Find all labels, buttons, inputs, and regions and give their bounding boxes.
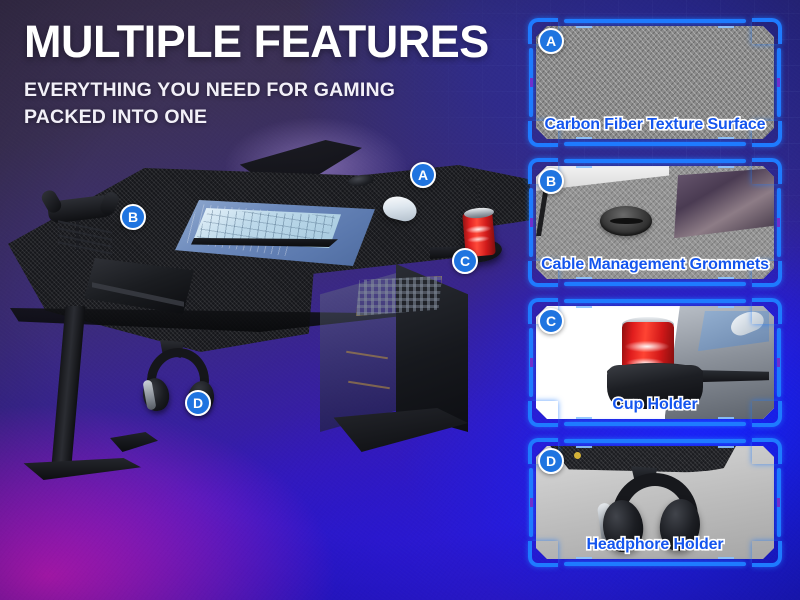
scene-badge-c[interactable]: C xyxy=(452,248,478,274)
frame-pip xyxy=(530,78,533,87)
frame-pip xyxy=(530,218,533,227)
desk-leg-column xyxy=(51,306,86,476)
frame-pip xyxy=(530,498,533,507)
frame-tick xyxy=(718,557,734,559)
panel-label-d: Headphore Holder xyxy=(524,536,786,554)
page-title: MULTIPLE FEATURES xyxy=(24,18,524,66)
panel-badge-b[interactable]: B xyxy=(538,168,564,194)
frame-tick xyxy=(718,417,734,419)
panel-label-a: Carbon Fiber Texture Surface xyxy=(524,116,786,134)
frame-tick xyxy=(576,306,592,308)
frame-pip xyxy=(777,218,780,227)
game-disc-rack xyxy=(58,224,112,254)
frame-tick xyxy=(718,26,734,28)
controller-stand xyxy=(44,188,120,250)
frame-corner-top-right xyxy=(752,438,782,464)
subtitle-line-1: EVERYTHING YOU NEED FOR GAMING xyxy=(24,77,524,104)
highlight-spark xyxy=(574,452,581,459)
frame-tick xyxy=(718,166,734,168)
frame-edge-top xyxy=(564,159,746,163)
frame-tick xyxy=(576,277,592,279)
panel-label-b: Cable Management Grommets xyxy=(524,256,786,274)
feature-panel-headphone-holder[interactable]: D Headphore Holder xyxy=(524,436,786,569)
frame-edge-bottom xyxy=(564,562,746,566)
frame-corner-top-right xyxy=(752,158,782,184)
grommet-hole xyxy=(600,206,652,236)
soda-can-label xyxy=(465,221,493,249)
panel-label-c: Cup Holder xyxy=(524,396,786,414)
frame-tick xyxy=(718,306,734,308)
product-feature-poster: MULTIPLE FEATURES EVERYTHING YOU NEED FO… xyxy=(0,0,800,600)
frame-tick xyxy=(576,446,592,448)
feature-panel-carbon-fiber[interactable]: A Carbon Fiber Texture Surface xyxy=(524,16,786,149)
product-scene: A B C D xyxy=(0,140,530,600)
frame-tick xyxy=(576,166,592,168)
frame-tick xyxy=(718,277,734,279)
scene-badge-a[interactable]: A xyxy=(410,162,436,188)
frame-corner-top-right xyxy=(752,298,782,324)
desk-leg-crossbar xyxy=(110,432,158,452)
frame-tick xyxy=(576,26,592,28)
feature-panel-cup-holder[interactable]: C Cup Holder xyxy=(524,296,786,429)
frame-tick xyxy=(576,417,592,419)
frame-edge-top xyxy=(564,439,746,443)
frame-corner-top-right xyxy=(752,18,782,44)
scene-badge-b[interactable]: B xyxy=(120,204,146,230)
frame-edge-bottom xyxy=(564,142,746,146)
panel-badge-d[interactable]: D xyxy=(538,448,564,474)
frame-tick xyxy=(718,446,734,448)
frame-pip xyxy=(530,358,533,367)
frame-tick xyxy=(576,137,592,139)
feature-panel-list: A Carbon Fiber Texture Surface xyxy=(524,16,792,576)
pc-tower xyxy=(320,258,475,448)
tower-vent-mesh xyxy=(356,276,442,316)
frame-pip xyxy=(777,498,780,507)
frame-edge-top xyxy=(564,19,746,23)
panel-badge-c[interactable]: C xyxy=(538,308,564,334)
feature-panel-cable-grommets[interactable]: B Cable Management Grommets xyxy=(524,156,786,289)
frame-edge-bottom xyxy=(564,282,746,286)
frame-tick xyxy=(576,557,592,559)
rack-shelf xyxy=(58,220,112,233)
desk-leg-foot xyxy=(16,458,141,480)
frame-edge-bottom xyxy=(564,422,746,426)
frame-pip xyxy=(777,78,780,87)
panel-badge-a[interactable]: A xyxy=(538,28,564,54)
heading-block: MULTIPLE FEATURES EVERYTHING YOU NEED FO… xyxy=(24,18,524,131)
frame-pip xyxy=(777,358,780,367)
frame-tick xyxy=(718,137,734,139)
scene-badge-d[interactable]: D xyxy=(185,390,211,416)
frame-edge-top xyxy=(564,299,746,303)
